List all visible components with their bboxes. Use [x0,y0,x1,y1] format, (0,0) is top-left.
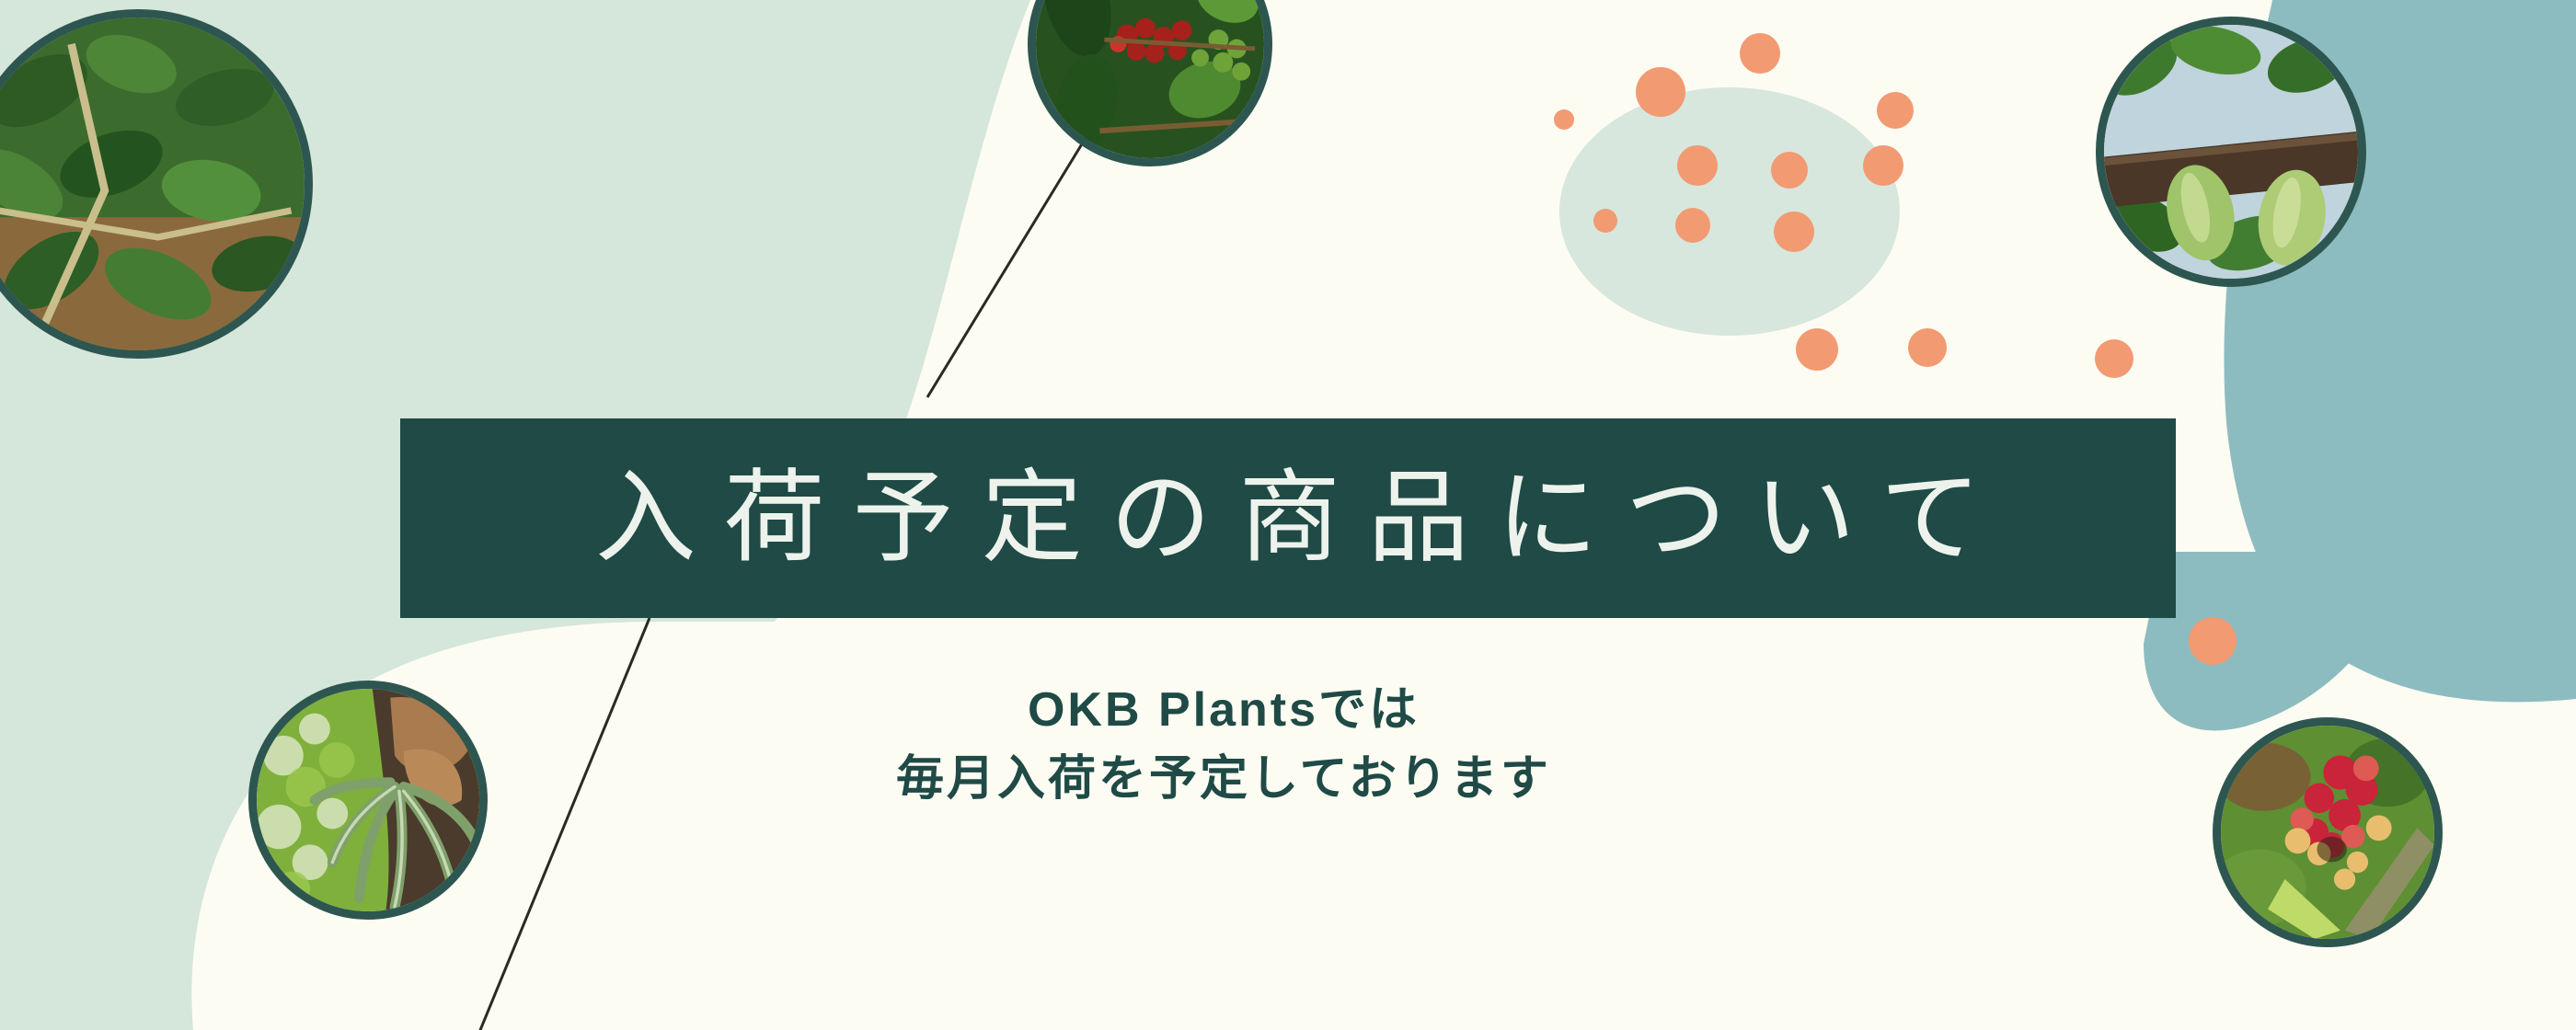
hairline-bottom-left-icon [478,618,650,1030]
coffee-foliage-image [0,17,305,350]
subtitle-line-1: OKB Plantsでは [718,676,1730,745]
coffee-cherries-image [1036,0,1264,158]
cacao-pods-image [2104,25,2358,279]
page-title: 入荷予定の商品について [568,468,2009,569]
hairline-top-center-icon [927,138,1086,397]
subtitle-block: OKB Plantsでは 毎月入荷を予定しております [718,676,1730,815]
photo-staghorn-fern [248,681,488,920]
subtitle-line-2: 毎月入荷を予定しております [718,745,1730,814]
title-band: 入荷予定の商品について [400,418,2176,618]
photo-cacao-pods [2096,17,2366,287]
photo-coffee-cherries-bottom [2213,717,2443,947]
staghorn-fern-image [257,689,479,911]
coffee-cherries-bokeh-image [2221,726,2434,939]
banner-root: 入荷予定の商品について OKB Plantsでは 毎月入荷を予定しております [0,0,2576,1030]
